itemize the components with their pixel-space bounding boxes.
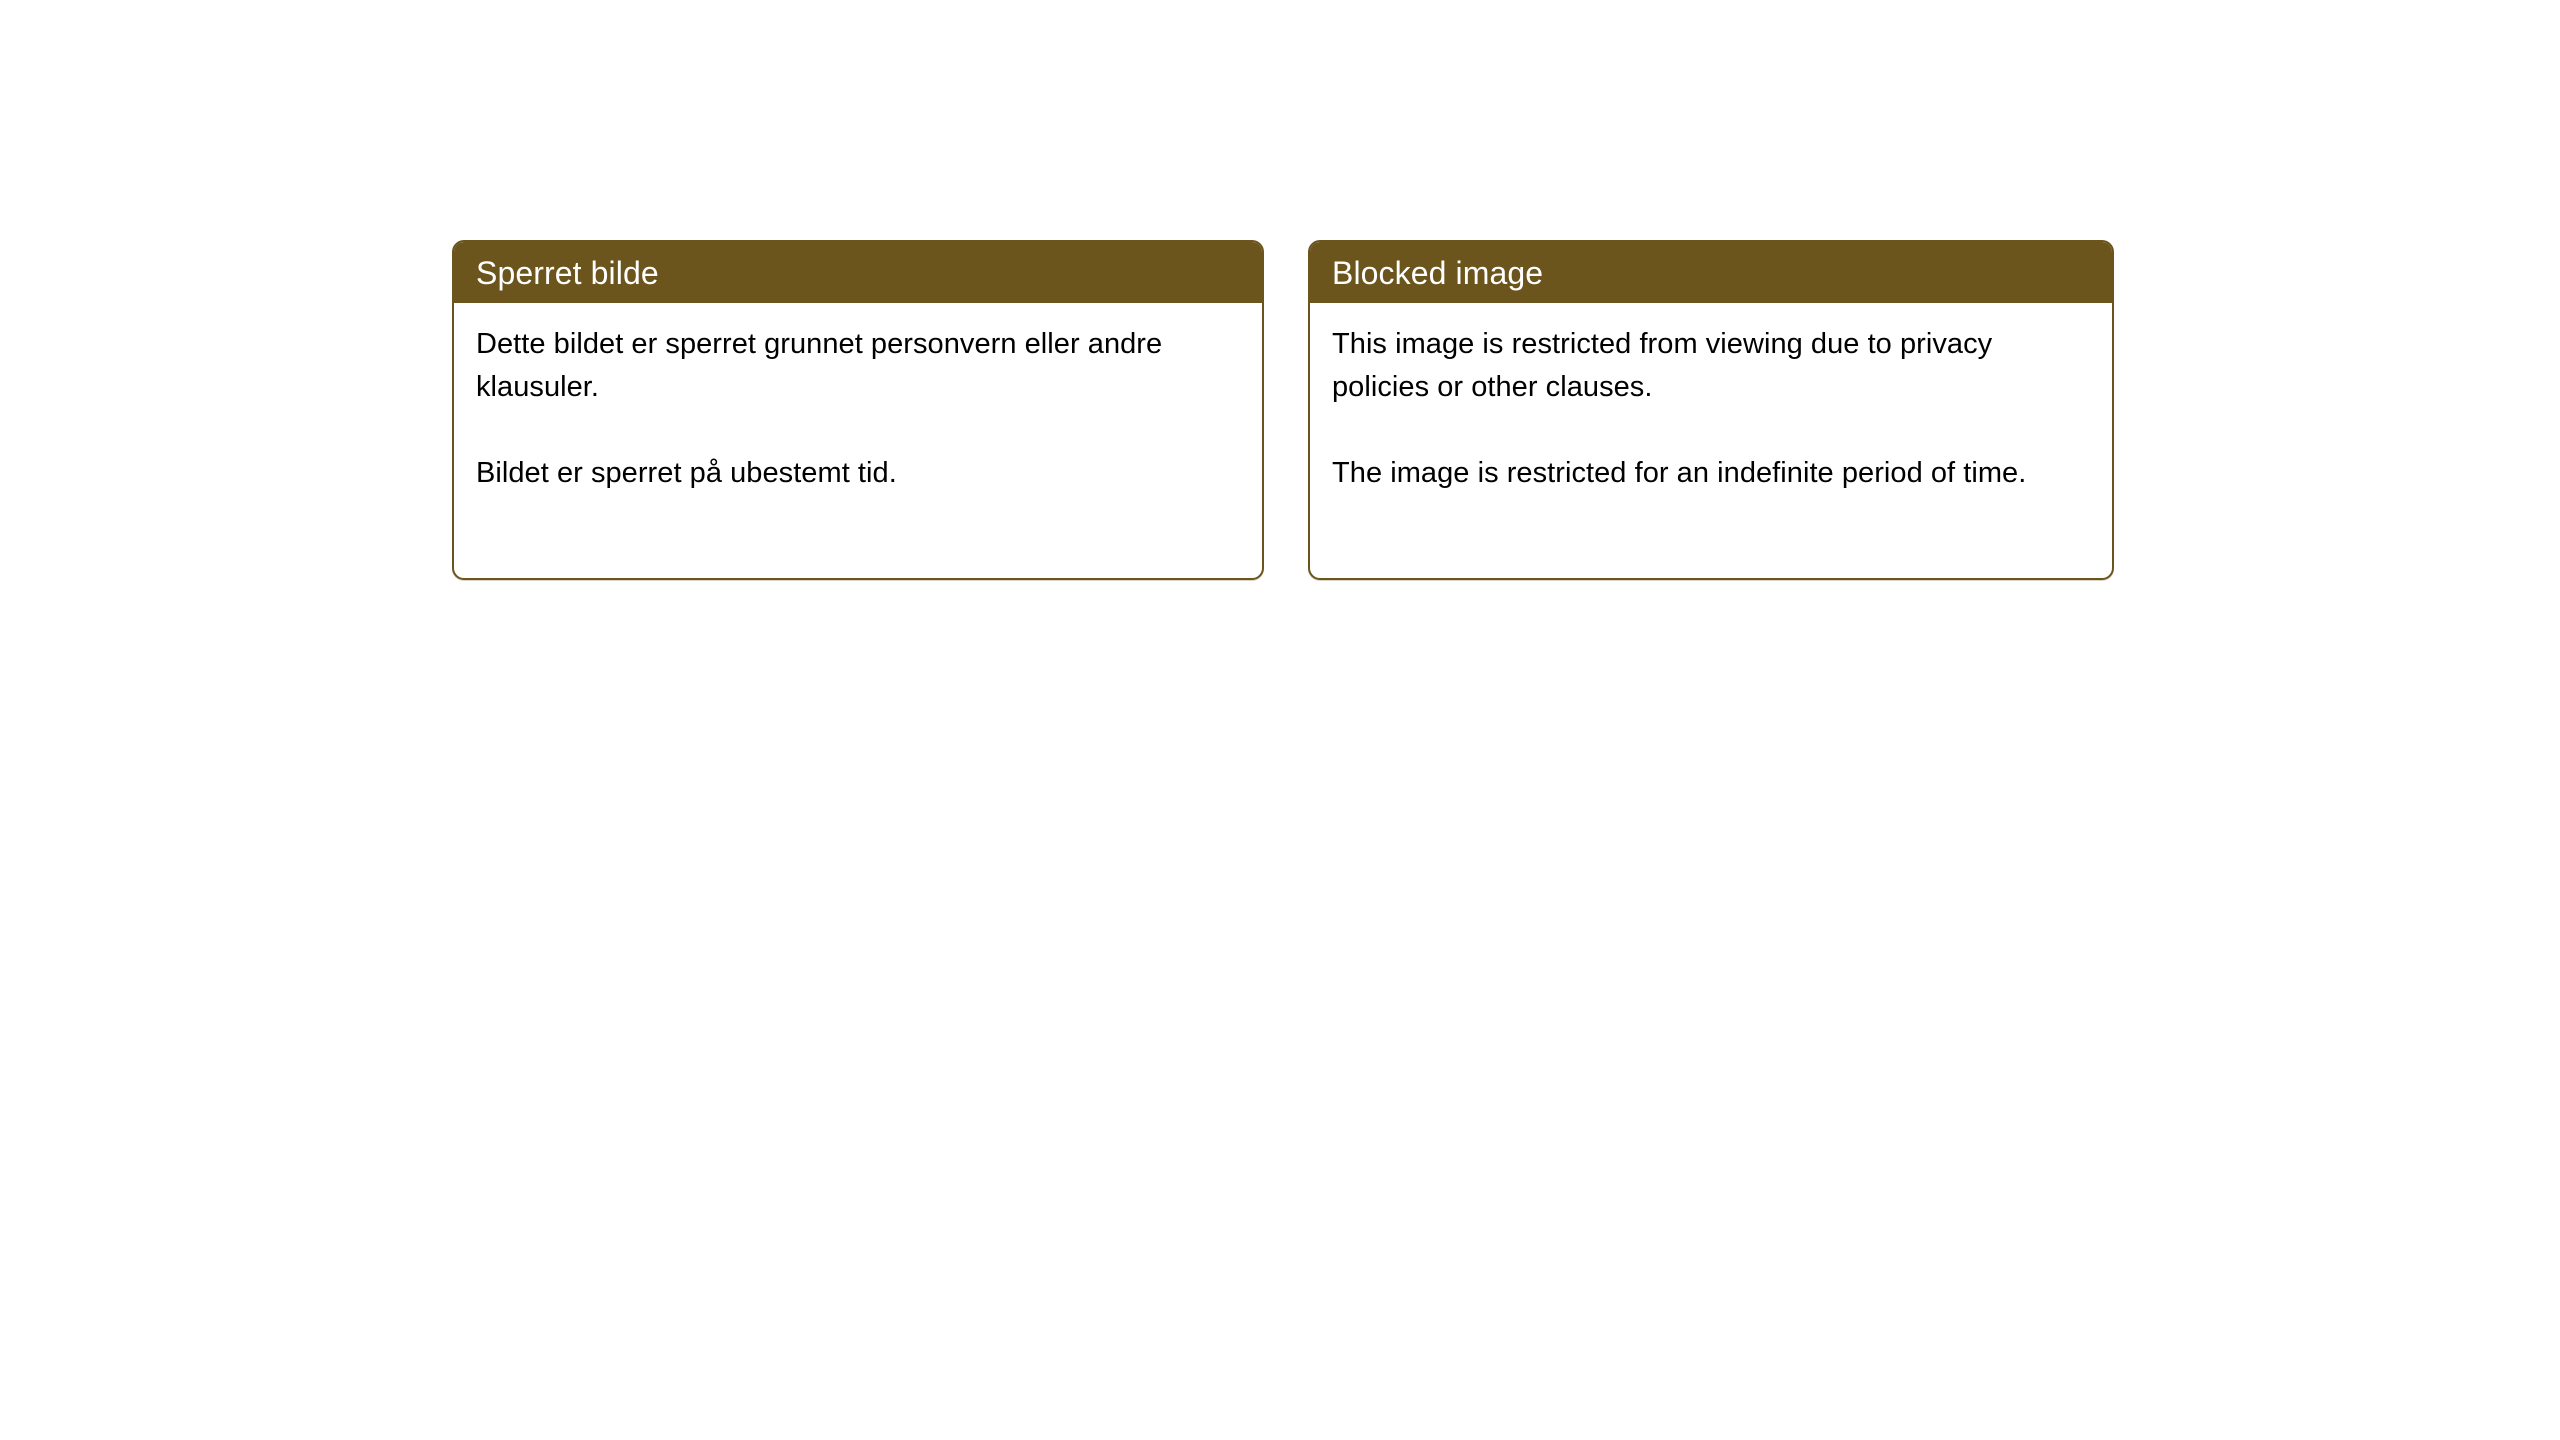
card-paragraph-primary-norwegian: Dette bildet er sperret grunnet personve…	[476, 323, 1240, 409]
blocked-image-notice-card-english: Blocked image This image is restricted f…	[1308, 240, 2114, 580]
card-title-norwegian: Sperret bilde	[476, 255, 659, 291]
card-header-norwegian: Sperret bilde	[454, 242, 1262, 303]
card-body-norwegian: Dette bildet er sperret grunnet personve…	[454, 303, 1262, 495]
card-body-english: This image is restricted from viewing du…	[1310, 303, 2112, 495]
card-title-english: Blocked image	[1332, 255, 1543, 291]
card-header-english: Blocked image	[1310, 242, 2112, 303]
card-paragraph-secondary-english: The image is restricted for an indefinit…	[1332, 452, 2090, 495]
page-root: Sperret bilde Dette bildet er sperret gr…	[0, 0, 2560, 1440]
card-paragraph-secondary-norwegian: Bildet er sperret på ubestemt tid.	[476, 452, 1240, 495]
blocked-image-notice-card-norwegian: Sperret bilde Dette bildet er sperret gr…	[452, 240, 1264, 580]
card-paragraph-primary-english: This image is restricted from viewing du…	[1332, 323, 2090, 409]
